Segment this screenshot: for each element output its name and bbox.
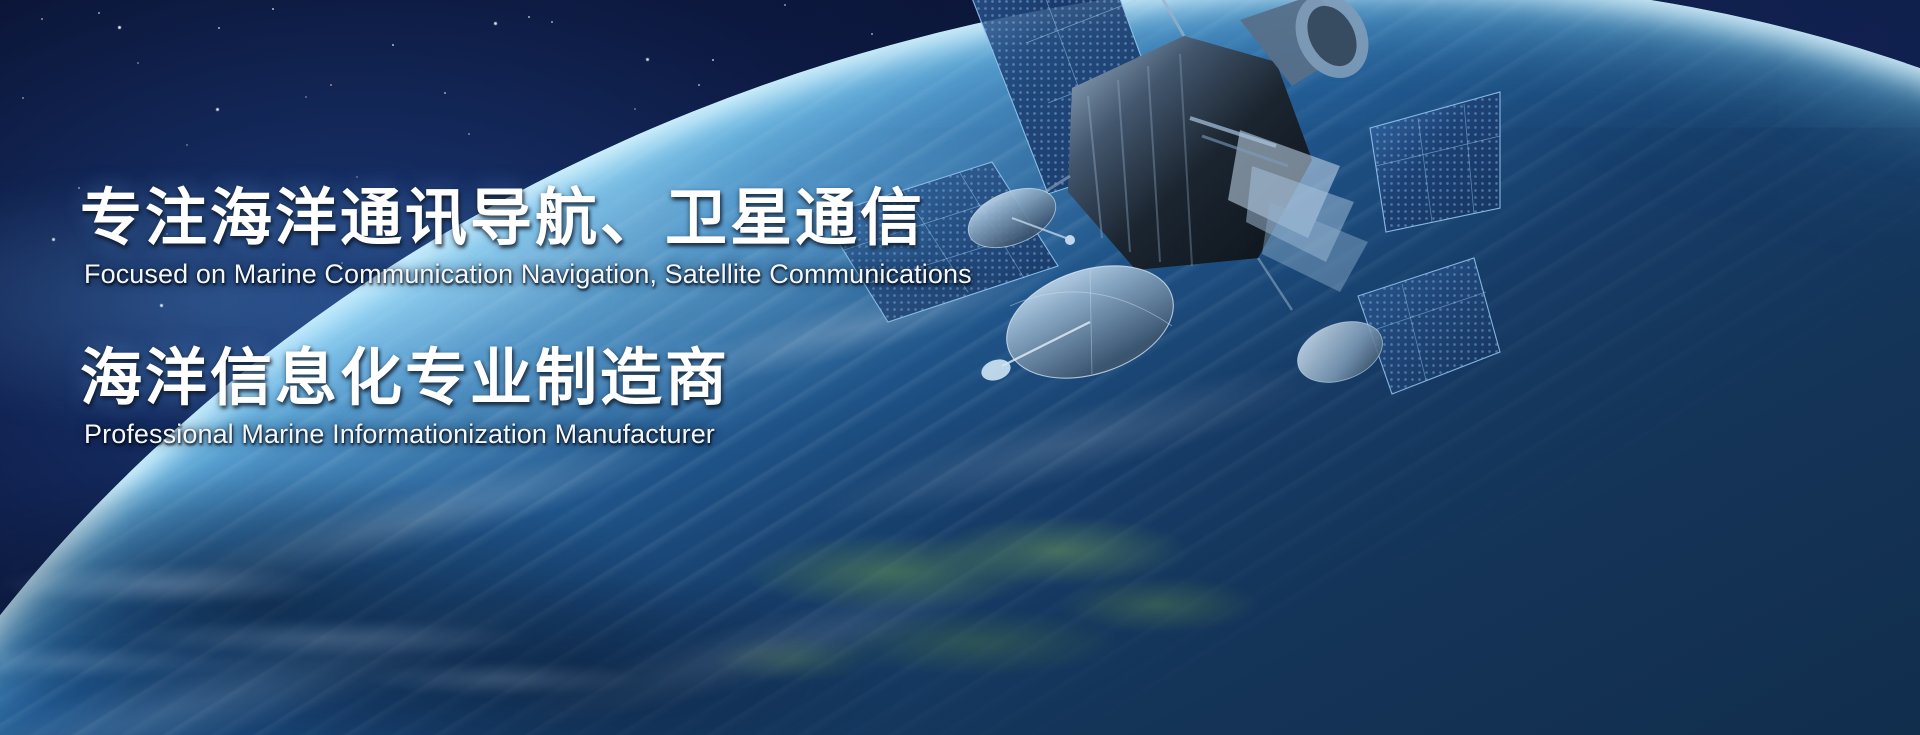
- headline-chinese-primary: 专注海洋通讯导航、卫星通信: [80, 186, 1080, 252]
- headline-chinese-secondary: 海洋信息化专业制造商: [80, 346, 1080, 412]
- earth-cloud-wisps: [0, 520, 900, 735]
- headline-block-2: 海洋信息化专业制造商 Professional Marine Informati…: [80, 346, 1080, 450]
- banner-copy: 专注海洋通讯导航、卫星通信 Focused on Marine Communic…: [80, 186, 1080, 450]
- subtitle-english-primary: Focused on Marine Communication Navigati…: [84, 258, 1080, 290]
- hero-banner: 专注海洋通讯导航、卫星通信 Focused on Marine Communic…: [0, 0, 1920, 735]
- headline-block-1: 专注海洋通讯导航、卫星通信 Focused on Marine Communic…: [80, 186, 1080, 290]
- subtitle-english-secondary: Professional Marine Informationization M…: [84, 418, 1080, 450]
